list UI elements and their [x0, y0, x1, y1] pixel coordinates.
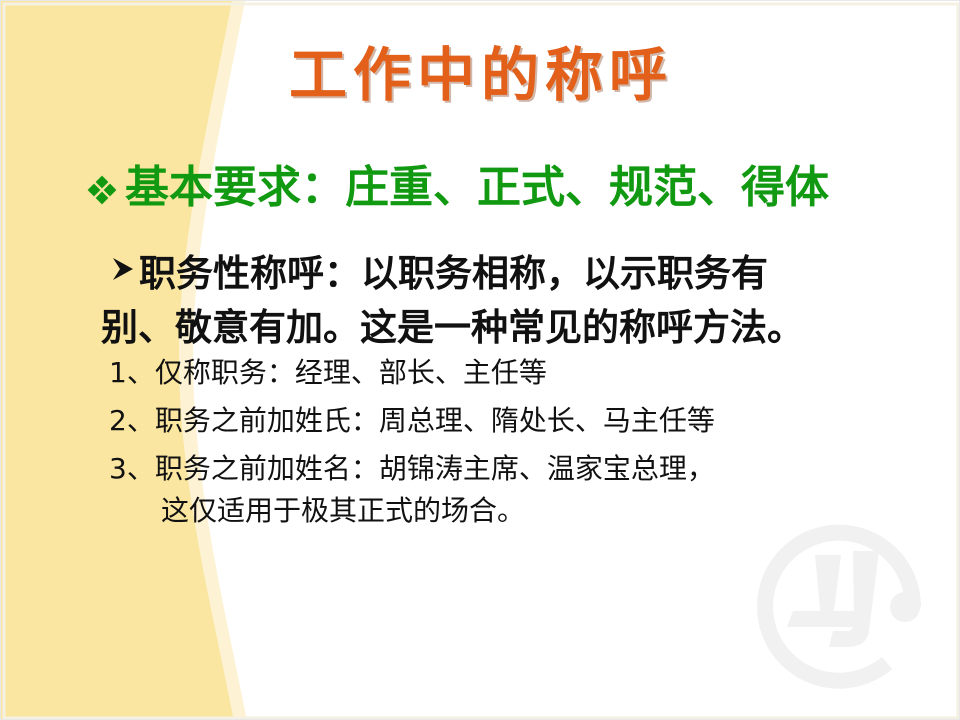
heading-requirements-label: 基本要求：庄重、正式、规范、得体: [125, 164, 829, 212]
heading-requirements: 基本要求：庄重、正式、规范、得体: [85, 164, 829, 212]
list-item: 2、职务之前加姓氏：周总理、隋处长、马主任等: [109, 407, 919, 435]
numbered-examples-list: 1、仅称职务：经理、部长、主任等 2、职务之前加姓氏：周总理、隋处长、马主任等 …: [109, 359, 919, 525]
arrow-bullet-icon: [109, 254, 137, 284]
list-item: 3、职务之前加姓名：胡锦涛主席、温家宝总理， 这仅适用于极其正式的场合。: [109, 455, 919, 525]
sub-bullet-line-2-text: 别、敬意有加。这是一种常见的称呼方法。: [101, 301, 899, 355]
presentation-slide: 工作中的称呼 基本要求：庄重、正式、规范、得体 职务性称呼：以职务相称，以示职务…: [0, 0, 960, 720]
diamond-bullet-icon: [85, 173, 119, 207]
sub-bullet-position-titles: 职务性称呼：以职务相称，以示职务有 别、敬意有加。这是一种常见的称呼方法。: [109, 247, 899, 354]
sub-bullet-line-1-text: 职务性称呼：以职务相称，以示职务有: [139, 247, 768, 301]
list-item-continuation: 这仅适用于极其正式的场合。: [161, 497, 919, 525]
slide-content: 工作中的称呼 基本要求：庄重、正式、规范、得体 职务性称呼：以职务相称，以示职务…: [1, 1, 960, 720]
list-item: 1、仅称职务：经理、部长、主任等: [109, 359, 919, 387]
sub-bullet-line-1: 职务性称呼：以职务相称，以示职务有: [109, 247, 899, 301]
list-item-text: 3、职务之前加姓名：胡锦涛主席、温家宝总理，: [109, 452, 715, 485]
page-title: 工作中的称呼: [1, 45, 960, 106]
